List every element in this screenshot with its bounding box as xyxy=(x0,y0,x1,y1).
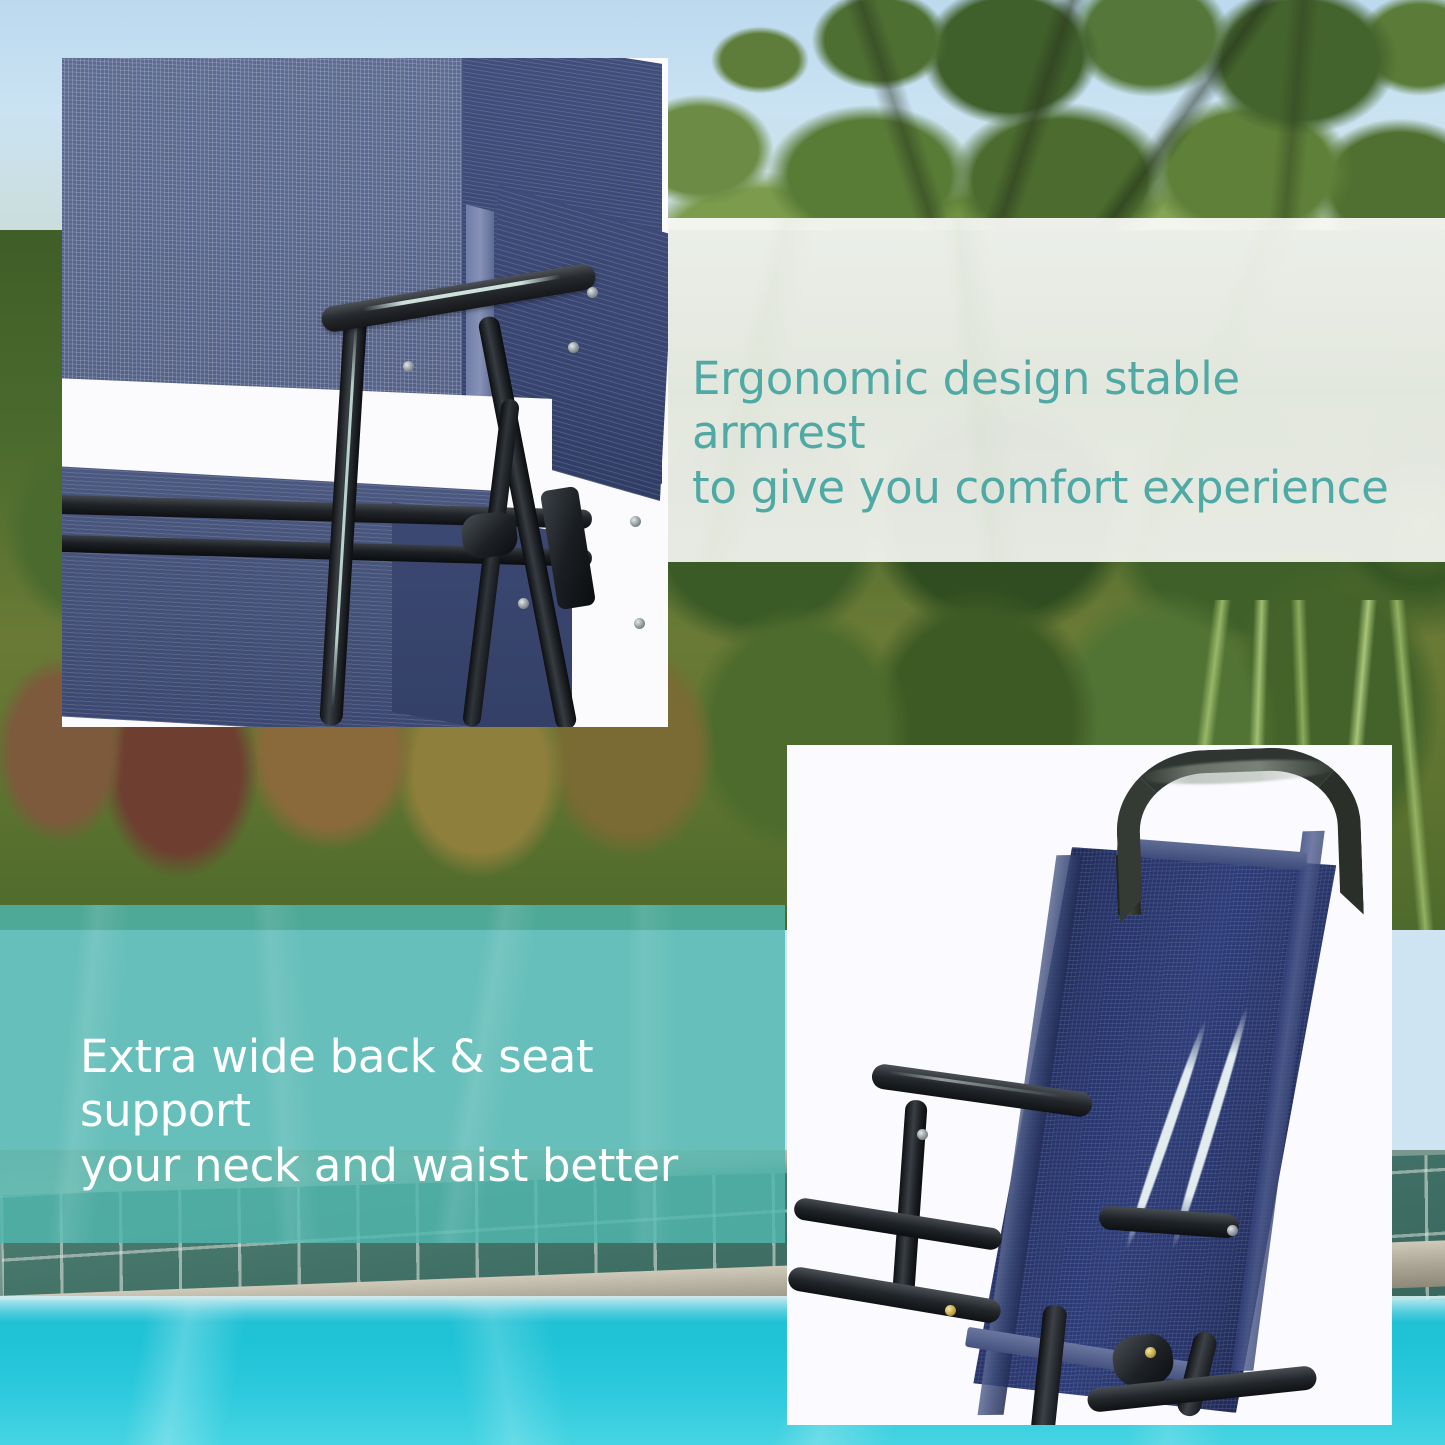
headline-back-seat-support: Extra wide back & seat support your neck… xyxy=(80,1030,770,1193)
bracket-screw-upper xyxy=(630,516,641,527)
armrest-bracket-screw xyxy=(403,361,414,372)
pivot-gold-screw xyxy=(1145,1347,1156,1358)
chair-pivot-joint xyxy=(460,510,519,560)
photo-panel-armrest-detail xyxy=(62,58,668,727)
rear-leg-screw xyxy=(568,342,579,353)
side-arm-screw xyxy=(1227,1225,1238,1236)
frame-rail-gold-screw xyxy=(945,1305,956,1316)
bracket-screw-lower xyxy=(634,618,645,629)
headline-armrest: Ergonomic design stable armrest to give … xyxy=(692,352,1412,515)
photo-panel-backrest-detail xyxy=(787,745,1392,1425)
armrest-post-screw xyxy=(917,1129,928,1140)
joint-screw xyxy=(518,598,529,609)
product-feature-collage: Ergonomic design stable armrest to give … xyxy=(0,0,1445,1445)
armrest-screw xyxy=(587,287,598,298)
tree-branches-overlay xyxy=(660,0,1445,230)
